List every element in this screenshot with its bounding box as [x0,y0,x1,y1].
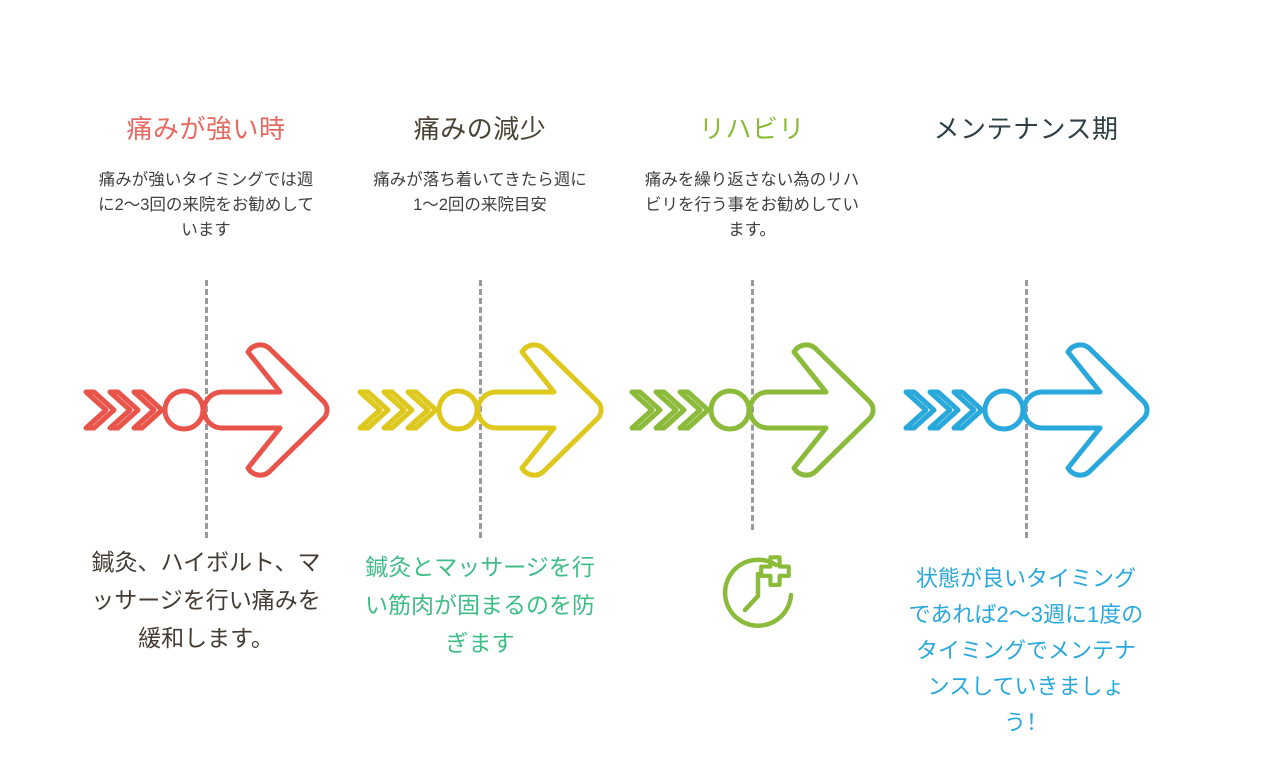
infographic-canvas: 痛みが強い時 痛みが強いタイミングでは週に2〜3回の来院をお勧めしています 鍼灸… [0,0,1270,779]
chevron-group-icon [360,392,436,428]
timeline-stage-acute-pain: 痛みが強い時 痛みが強いタイミングでは週に2〜3回の来院をお勧めしています 鍼灸… [76,0,336,779]
stage-description: 痛みが落ち着いてきたら週に1〜2回の来院目安 [372,168,588,218]
arrow-right-icon [478,345,601,475]
timeline-stage-maintenance: メンテナンス期 状態が良いタイミングであれば2〜3週に1度のタイミングでメンテナ… [896,0,1156,779]
stage-title: 痛みが強い時 [76,113,336,145]
stage-arrow-graphic [76,340,338,480]
stage-note: 鍼灸、ハイボルト、マッサージを行い痛みを緩和します。 [86,543,326,657]
stage-arrow-graphic [622,340,884,480]
stage-note: 鍼灸とマッサージを行い筋肉が固まるのを防ぎます [360,548,600,662]
chevron-group-icon [906,392,982,428]
circle-node-icon [711,391,749,429]
circle-node-icon [439,391,477,429]
arrow-right-icon [204,345,327,475]
clock-plus-icon [714,548,804,638]
stage-note: 状態が良いタイミングであれば2〜3週に1度のタイミングでメンテナンスしていきまし… [906,561,1146,741]
chevron-group-icon [86,392,162,428]
stage-title: リハビリ [622,113,882,145]
timeline-stage-pain-reduction: 痛みの減少 痛みが落ち着いてきたら週に1〜2回の来院目安 鍼灸とマッサージを行い… [350,0,610,779]
arrow-right-icon [1024,345,1147,475]
stage-description: 痛みを繰り返さない為のリハビリを行う事をお勧めしています。 [644,168,860,243]
stage-title: 痛みの減少 [350,113,610,145]
stage-arrow-graphic [896,340,1158,480]
circle-node-icon [985,391,1023,429]
stage-arrow-graphic [350,340,612,480]
stage-title: メンテナンス期 [896,113,1156,145]
stage-description: 痛みが強いタイミングでは週に2〜3回の来院をお勧めしています [98,168,314,243]
circle-node-icon [165,391,203,429]
chevron-group-icon [632,392,708,428]
timeline-stage-rehabilitation: リハビリ 痛みを繰り返さない為のリハビリを行う事をお勧めしています。 [622,0,882,779]
arrow-right-icon [750,345,873,475]
